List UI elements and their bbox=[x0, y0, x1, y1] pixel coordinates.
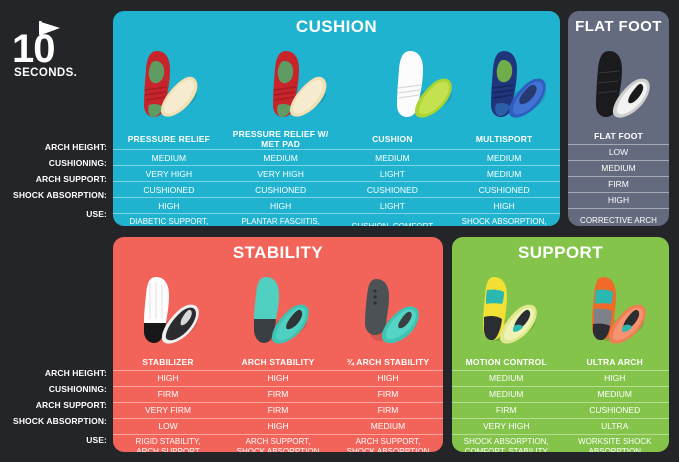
cell: CUSHIONED bbox=[337, 182, 449, 198]
label-shock-absorption: SHOCK ABSORPTION: bbox=[0, 187, 112, 203]
cushion-row-arch-height: MEDIUM MEDIUM MEDIUM MEDIUM bbox=[113, 150, 560, 166]
flat-foot-row-arch-height: LOW bbox=[568, 144, 669, 160]
col-header: FLAT FOOT bbox=[568, 129, 669, 144]
art-flat-foot bbox=[568, 37, 669, 129]
art-pressure-relief-met-pad bbox=[224, 37, 372, 129]
cell: HIGH bbox=[448, 198, 560, 214]
cell: HIGH bbox=[225, 198, 337, 214]
cell: VERY FIRM bbox=[113, 402, 223, 418]
support-row-arch-support: FIRM CUSHIONED bbox=[452, 402, 669, 418]
cell: CUSHIONED bbox=[448, 182, 560, 198]
flat-foot-row-shock-absorption: HIGH bbox=[568, 192, 669, 208]
col-header: MULTISPORT bbox=[448, 129, 560, 150]
col-header: CUSHION bbox=[337, 129, 449, 150]
stability-row-arch-support: VERY FIRM FIRM FIRM bbox=[113, 402, 443, 418]
cell: HIGH bbox=[333, 370, 443, 386]
col-header: ULTRA ARCH bbox=[561, 355, 670, 370]
label-cushioning: CUSHIONING: bbox=[0, 155, 112, 171]
cell: CUSHIONED bbox=[225, 182, 337, 198]
insole-comparison-chart: 10 SECONDS. 10 SECONDS. ARCH HEIGHT: CUS… bbox=[0, 0, 679, 462]
art-multisport bbox=[472, 37, 560, 129]
art-ultra-arch bbox=[560, 263, 669, 355]
label-use: USE: bbox=[0, 203, 112, 228]
cell: LIGHT bbox=[337, 166, 449, 182]
panel-flat-foot[interactable]: FLAT FOOT FLAT FOOT LOW bbox=[568, 11, 669, 226]
cell: MEDIUM bbox=[448, 166, 560, 182]
panel-stability[interactable]: STABILITY bbox=[113, 237, 443, 452]
support-table: MOTION CONTROL ULTRA ARCH MEDIUM HIGH ME… bbox=[452, 355, 669, 452]
cell: VERY HIGH bbox=[225, 166, 337, 182]
flat-foot-header-row: FLAT FOOT bbox=[568, 129, 669, 144]
cell: MEDIUM bbox=[225, 150, 337, 166]
cell: HIGH bbox=[568, 192, 669, 208]
logo-mark: 10 SECONDS. bbox=[10, 18, 78, 80]
panel-flat-foot-title: FLAT FOOT bbox=[568, 11, 669, 37]
cell: MEDIUM bbox=[448, 150, 560, 166]
panel-cushion-title: CUSHION bbox=[113, 11, 560, 37]
cell: HIGH bbox=[113, 198, 225, 214]
stability-row-shock-absorption: LOW HIGH MEDIUM bbox=[113, 418, 443, 434]
art-three-quarter-arch-stability bbox=[333, 263, 443, 355]
cell: FIRM bbox=[568, 176, 669, 192]
cell: MEDIUM bbox=[452, 386, 561, 402]
support-header-row: MOTION CONTROL ULTRA ARCH bbox=[452, 355, 669, 370]
stability-table: STABILIZER ARCH STABILITY ¾ ARCH STABILI… bbox=[113, 355, 443, 452]
cell: HIGH bbox=[561, 370, 670, 386]
label-arch-support: ARCH SUPPORT: bbox=[0, 171, 112, 187]
cell: PLANTAR FASCIITIS, MORTON'S NEUROMA bbox=[225, 214, 337, 227]
cell: CUSHION, COMFORT bbox=[337, 214, 449, 227]
col-header: PRESSURE RELIEF bbox=[113, 129, 225, 150]
cell: DIABETIC SUPPORT, CUSTOM COMFORT bbox=[113, 214, 225, 227]
panel-cushion-artwork bbox=[113, 37, 560, 129]
cell: FIRM bbox=[223, 402, 333, 418]
support-row-cushioning: MEDIUM MEDIUM bbox=[452, 386, 669, 402]
col-header: ¾ ARCH STABILITY bbox=[333, 355, 443, 370]
cell: CORRECTIVE ARCH bbox=[568, 208, 669, 226]
support-row-arch-height: MEDIUM HIGH bbox=[452, 370, 669, 386]
cell: LIGHT bbox=[337, 198, 449, 214]
cell: HIGH bbox=[223, 418, 333, 434]
panel-cushion[interactable]: CUSHION bbox=[113, 11, 560, 226]
cell: LOW bbox=[568, 144, 669, 160]
art-cushion bbox=[372, 37, 472, 129]
label-arch-support: ARCH SUPPORT: bbox=[0, 397, 112, 413]
cell: CUSHIONED bbox=[561, 402, 670, 418]
cushion-row-use: DIABETIC SUPPORT, CUSTOM COMFORT PLANTAR… bbox=[113, 214, 560, 227]
label-arch-height: ARCH HEIGHT: bbox=[0, 139, 112, 155]
panel-support[interactable]: SUPPORT bbox=[452, 237, 669, 452]
cell: CUSHIONED bbox=[113, 182, 225, 198]
support-row-use: SHOCK ABSORPTION, COMFORT, STABILITY WOR… bbox=[452, 434, 669, 452]
cell: HIGH bbox=[223, 370, 333, 386]
cell: FIRM bbox=[333, 386, 443, 402]
row-labels-bottom: ARCH HEIGHT: CUSHIONING: ARCH SUPPORT: S… bbox=[0, 365, 112, 454]
cell: FIRM bbox=[452, 402, 561, 418]
cell: SHOCK ABSORPTION, COMFORT, STABILITY bbox=[452, 434, 561, 452]
art-motion-control bbox=[452, 263, 560, 355]
brand-logo: 10 SECONDS. bbox=[10, 18, 78, 80]
cell: LOW bbox=[113, 418, 223, 434]
stability-header-row: STABILIZER ARCH STABILITY ¾ ARCH STABILI… bbox=[113, 355, 443, 370]
cell: RIGID STABILITY, ARCH SUPPORT bbox=[113, 434, 223, 452]
cell: MEDIUM bbox=[113, 150, 225, 166]
cell: MEDIUM bbox=[333, 418, 443, 434]
flat-foot-row-arch-support: FIRM bbox=[568, 176, 669, 192]
support-row-shock-absorption: VERY HIGH ULTRA bbox=[452, 418, 669, 434]
stability-row-cushioning: FIRM FIRM FIRM bbox=[113, 386, 443, 402]
row-labels-top: ARCH HEIGHT: CUSHIONING: ARCH SUPPORT: S… bbox=[0, 139, 112, 228]
flat-foot-row-cushioning: MEDIUM bbox=[568, 160, 669, 176]
flat-foot-row-use: CORRECTIVE ARCH bbox=[568, 208, 669, 226]
cell: FIRM bbox=[113, 386, 223, 402]
label-shock-absorption: SHOCK ABSORPTION: bbox=[0, 413, 112, 429]
cell: SHOCK ABSORPTION, STABILITY, COMFORT bbox=[448, 214, 560, 227]
cushion-header-row: PRESSURE RELIEF PRESSURE RELIEF W/ MET P… bbox=[113, 129, 560, 150]
cell: ARCH SUPPORT, SHOCK ABSORPTION bbox=[223, 434, 333, 452]
panel-support-title: SUPPORT bbox=[452, 237, 669, 263]
panel-support-artwork bbox=[452, 263, 669, 355]
cell: ULTRA bbox=[561, 418, 670, 434]
cell: ARCH SUPPORT, SHOCK ABSORPTION bbox=[333, 434, 443, 452]
label-cushioning: CUSHIONING: bbox=[0, 381, 112, 397]
cushion-table: PRESSURE RELIEF PRESSURE RELIEF W/ MET P… bbox=[113, 129, 560, 226]
cell: MEDIUM bbox=[337, 150, 449, 166]
panel-flat-foot-artwork bbox=[568, 37, 669, 129]
cell: FIRM bbox=[333, 402, 443, 418]
stability-row-use: RIGID STABILITY, ARCH SUPPORT ARCH SUPPO… bbox=[113, 434, 443, 452]
col-header: PRESSURE RELIEF W/ MET PAD bbox=[225, 129, 337, 150]
cell: MEDIUM bbox=[452, 370, 561, 386]
svg-text:10: 10 bbox=[12, 27, 55, 71]
cell: HIGH bbox=[113, 370, 223, 386]
label-arch-height: ARCH HEIGHT: bbox=[0, 365, 112, 381]
cell: VERY HIGH bbox=[113, 166, 225, 182]
col-header: ARCH STABILITY bbox=[223, 355, 333, 370]
logo-subtext: SECONDS. bbox=[14, 67, 77, 79]
stability-row-arch-height: HIGH HIGH HIGH bbox=[113, 370, 443, 386]
cell: MEDIUM bbox=[561, 386, 670, 402]
cushion-row-cushioning: VERY HIGH VERY HIGH LIGHT MEDIUM bbox=[113, 166, 560, 182]
panel-stability-title: STABILITY bbox=[113, 237, 443, 263]
cell: MEDIUM bbox=[568, 160, 669, 176]
art-arch-stability bbox=[223, 263, 333, 355]
col-header: STABILIZER bbox=[113, 355, 223, 370]
flat-foot-table: FLAT FOOT LOW MEDIUM FIRM HIGH CORRECTIV… bbox=[568, 129, 669, 226]
cell: WORKSITE SHOCK ABSORPTION bbox=[561, 434, 670, 452]
panel-stability-artwork bbox=[113, 263, 443, 355]
label-use: USE: bbox=[0, 429, 112, 454]
art-pressure-relief bbox=[113, 37, 224, 129]
cell: VERY HIGH bbox=[452, 418, 561, 434]
col-header: MOTION CONTROL bbox=[452, 355, 561, 370]
art-stabilizer bbox=[113, 263, 223, 355]
cell: FIRM bbox=[223, 386, 333, 402]
cushion-row-arch-support: CUSHIONED CUSHIONED CUSHIONED CUSHIONED bbox=[113, 182, 560, 198]
cushion-row-shock-absorption: HIGH HIGH LIGHT HIGH bbox=[113, 198, 560, 214]
